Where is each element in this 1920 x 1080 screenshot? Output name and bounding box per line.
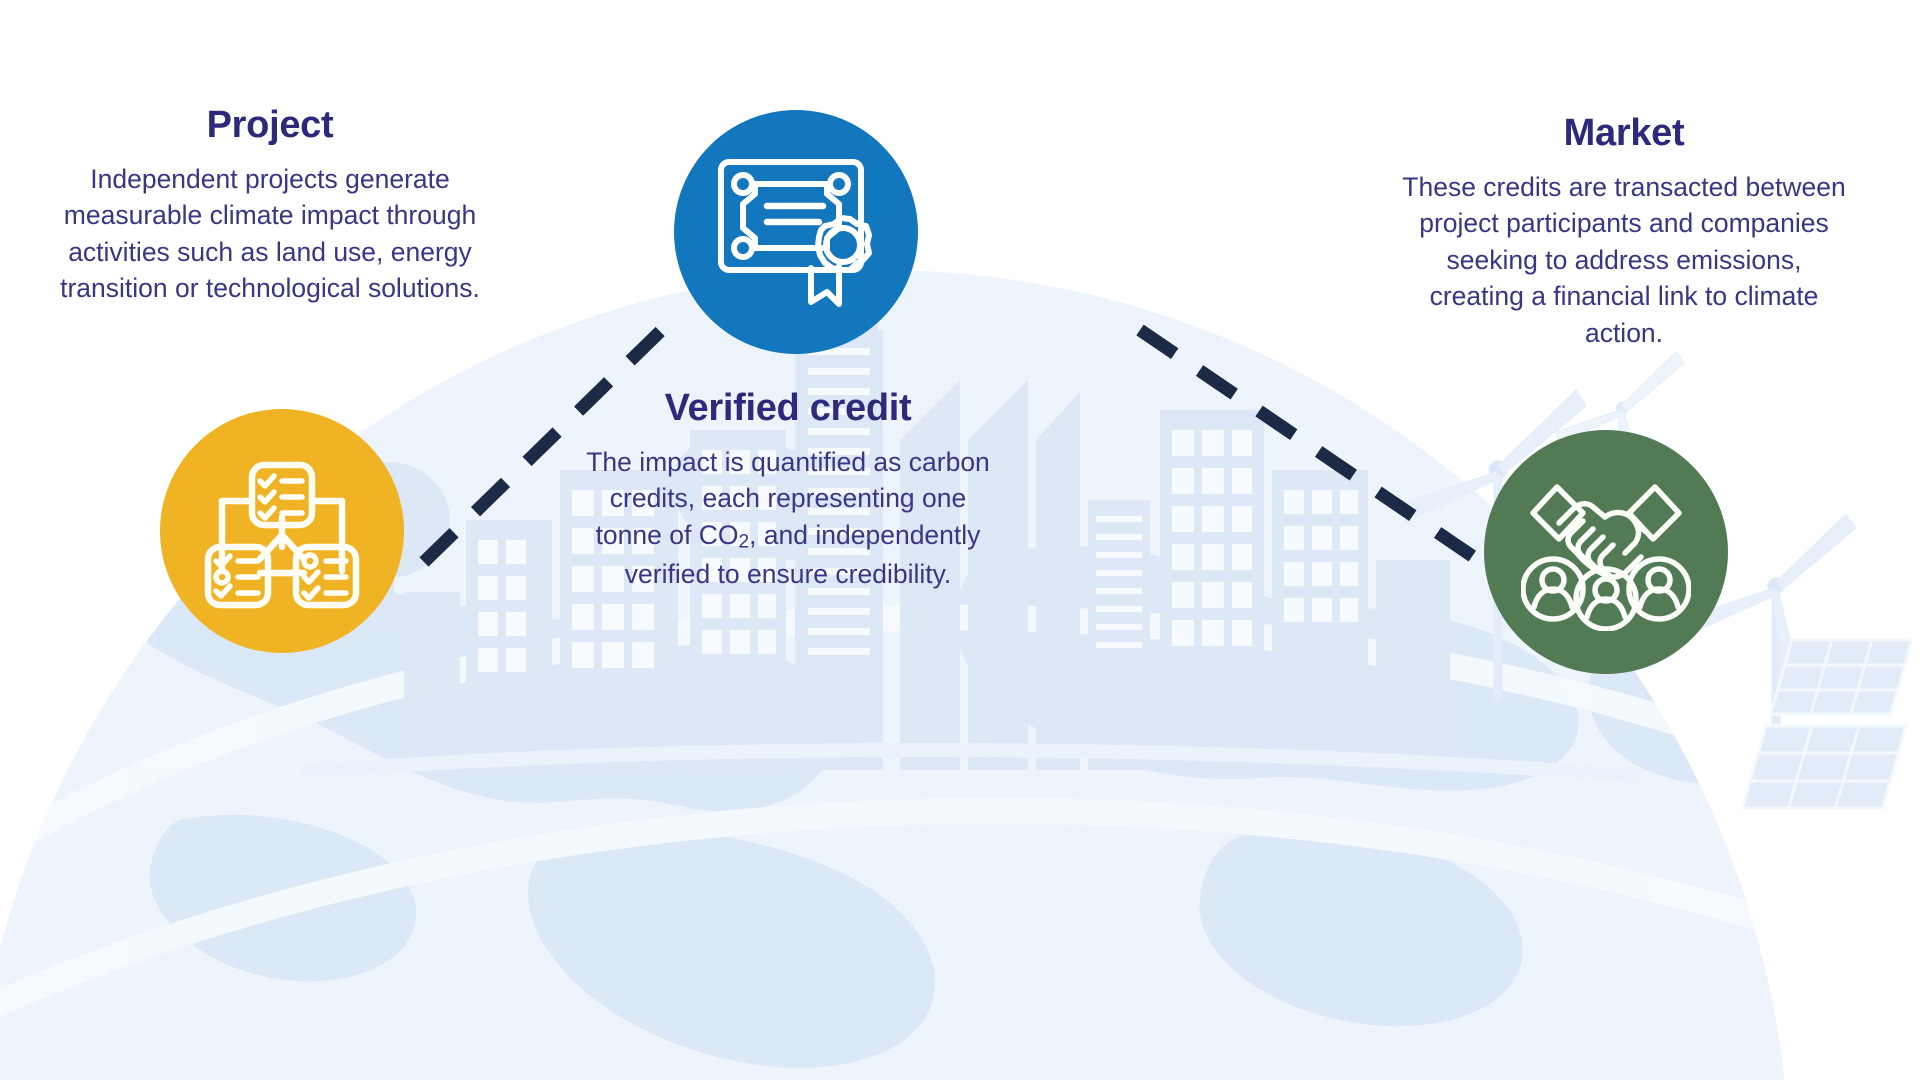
market-text-block: Market These credits are transacted betw… [1398, 113, 1850, 352]
market-description: These credits are transacted between pro… [1398, 169, 1850, 352]
co2-subscript: 2 [738, 531, 749, 552]
infographic-canvas: Project Independent projects generate me… [0, 0, 1920, 1080]
project-heading: Project [44, 105, 496, 147]
handshake-people-icon [1521, 473, 1691, 631]
connector-verified-to-market [1140, 330, 1478, 560]
checklist-hierarchy-icon [202, 451, 362, 611]
verified-credit-heading: Verified credit [578, 388, 998, 430]
verified-credit-description: The impact is quantified as carbon credi… [578, 444, 998, 592]
market-heading: Market [1398, 113, 1850, 155]
project-text-block: Project Independent projects generate me… [44, 105, 496, 307]
verified-credit-text-block: Verified credit The impact is quantified… [578, 388, 998, 592]
project-icon-circle[interactable] [160, 409, 404, 653]
certificate-award-icon [715, 156, 877, 308]
project-description: Independent projects generate measurable… [44, 161, 496, 307]
verified-credit-icon-circle[interactable] [674, 110, 918, 354]
market-icon-circle[interactable] [1484, 430, 1728, 674]
